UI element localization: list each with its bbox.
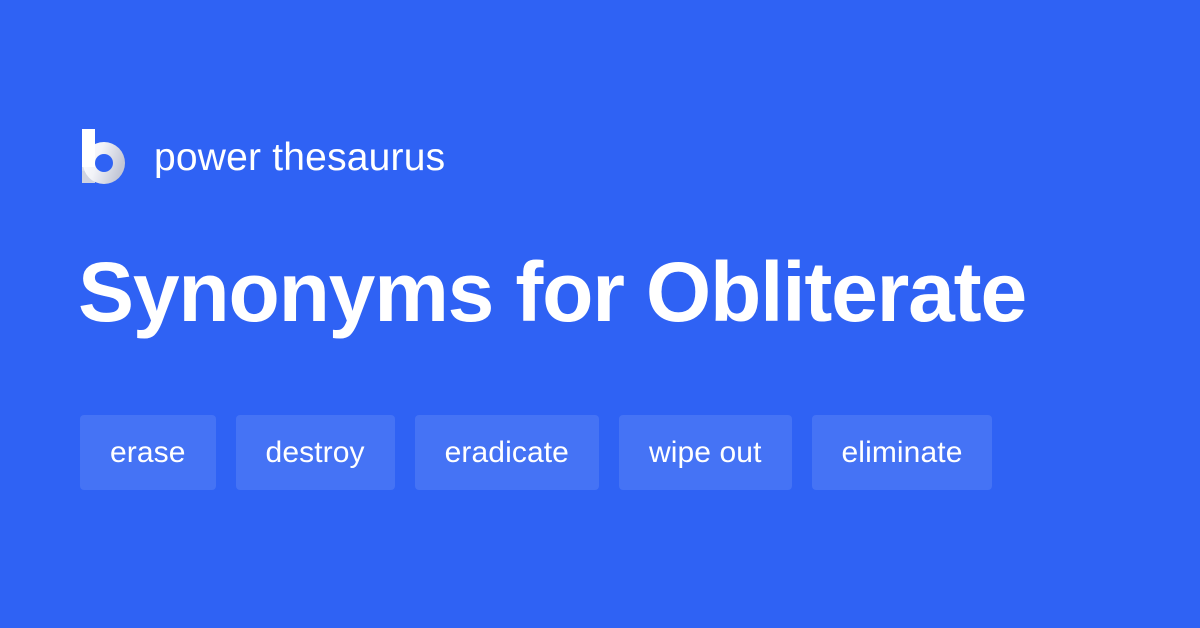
synonym-chip[interactable]: destroy — [236, 415, 395, 490]
share-card: power thesaurus Synonyms for Obliterate … — [0, 0, 1200, 628]
page-title: Synonyms for Obliterate — [78, 248, 1026, 336]
synonym-chip-label: destroy — [266, 436, 365, 470]
synonym-chip-label: eradicate — [445, 436, 569, 470]
synonym-chip[interactable]: eradicate — [415, 415, 599, 490]
synonym-chip-label: wipe out — [649, 436, 762, 470]
synonym-chip-label: eliminate — [842, 436, 963, 470]
power-thesaurus-b-logo-icon — [80, 129, 126, 185]
synonym-chip-label: erase — [110, 436, 186, 470]
synonym-chip[interactable]: erase — [80, 415, 216, 490]
synonym-chip-list: erase destroy eradicate wipe out elimina… — [80, 415, 992, 490]
brand-lockup[interactable]: power thesaurus — [80, 126, 445, 188]
synonym-chip[interactable]: wipe out — [619, 415, 792, 490]
synonym-chip[interactable]: eliminate — [812, 415, 993, 490]
brand-name: power thesaurus — [154, 138, 445, 177]
